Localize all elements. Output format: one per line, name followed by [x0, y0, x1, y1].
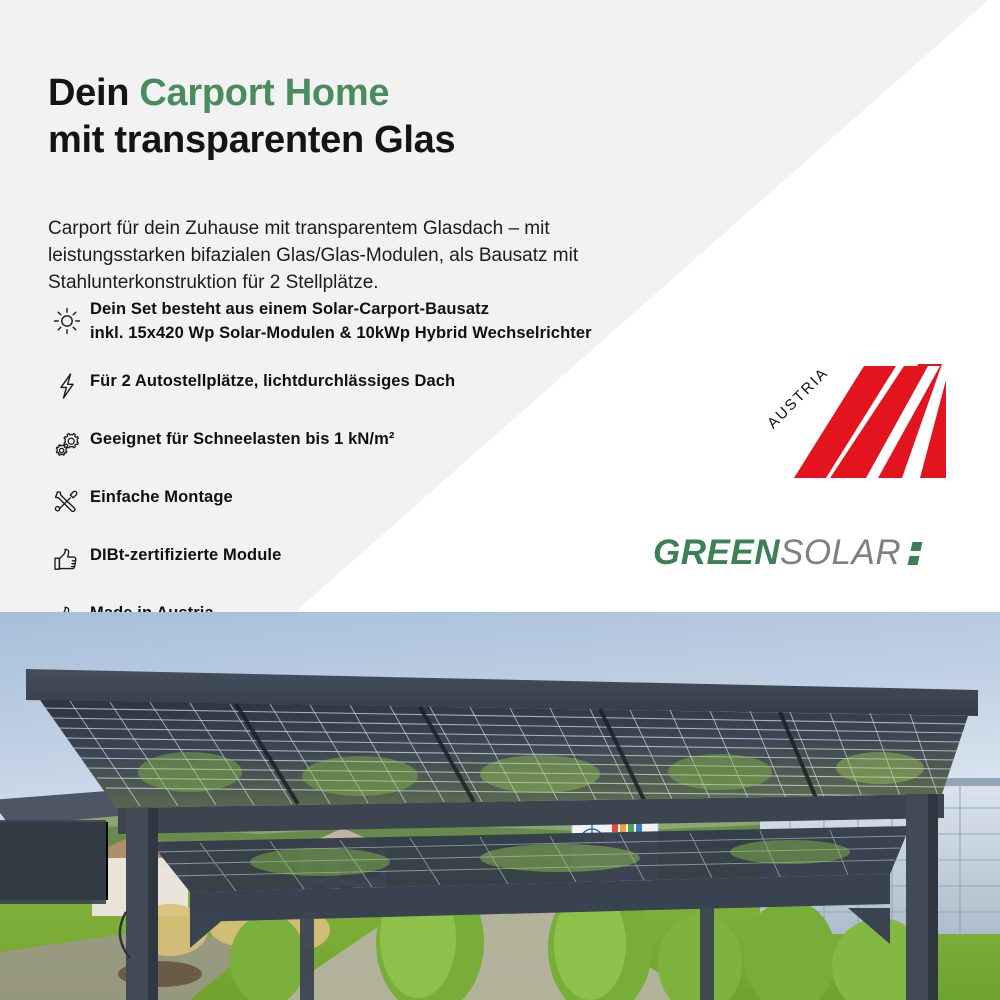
list-item-label: Für 2 Autostellplätze, lichtdurchlässige…: [90, 364, 804, 394]
list-item: Made in Austria: [44, 596, 804, 612]
tools-icon: [44, 480, 90, 522]
headline-line-2: mit transparenten Glas: [48, 117, 455, 164]
list-item-label: Geeignet für Schneelasten bis 1 kN/m²: [90, 422, 804, 452]
carport-photo-illustration: [0, 612, 1000, 1000]
brand-name-green: GREEN: [653, 533, 780, 573]
info-panel: Dein Carport Home mit transparenten Glas…: [0, 0, 1000, 612]
gears-icon: [44, 422, 90, 464]
austria-logo: AUSTRIA: [770, 360, 950, 480]
brand-name-gray: SOLAR: [780, 533, 901, 573]
list-item: Einfache Montage: [44, 480, 804, 522]
list-item-label: Einfache Montage: [90, 480, 804, 510]
carport-photo: [0, 612, 1000, 1000]
lightning-bolt-icon: [44, 364, 90, 406]
page-title: Dein Carport Home mit transparenten Glas: [48, 70, 455, 163]
headline-accent: Carport Home: [139, 72, 389, 114]
list-item: Für 2 Autostellplätze, lichtdurchlässige…: [44, 364, 804, 406]
headline-prefix: Dein: [48, 72, 139, 114]
list-item-label: Dein Set besteht aus einem Solar-Carport…: [90, 292, 804, 346]
list-item: Dein Set besteht aus einem Solar-Carport…: [44, 292, 804, 348]
austria-logo-mark: [770, 360, 950, 480]
thumbs-up-icon: [44, 538, 90, 580]
lead-paragraph: Carport für dein Zuhause mit transparent…: [48, 216, 673, 297]
product-infographic-page: Dein Carport Home mit transparenten Glas…: [0, 0, 1000, 1000]
thumbs-up-icon: [44, 596, 90, 612]
list-item: Geeignet für Schneelasten bis 1 kN/m²: [44, 422, 804, 464]
headline-line-1: Dein Carport Home: [48, 70, 455, 117]
sun-icon: [44, 292, 90, 348]
list-item-label: Made in Austria: [90, 596, 804, 612]
greensolar-logo[interactable]: GREENSOLAR: [653, 533, 920, 573]
